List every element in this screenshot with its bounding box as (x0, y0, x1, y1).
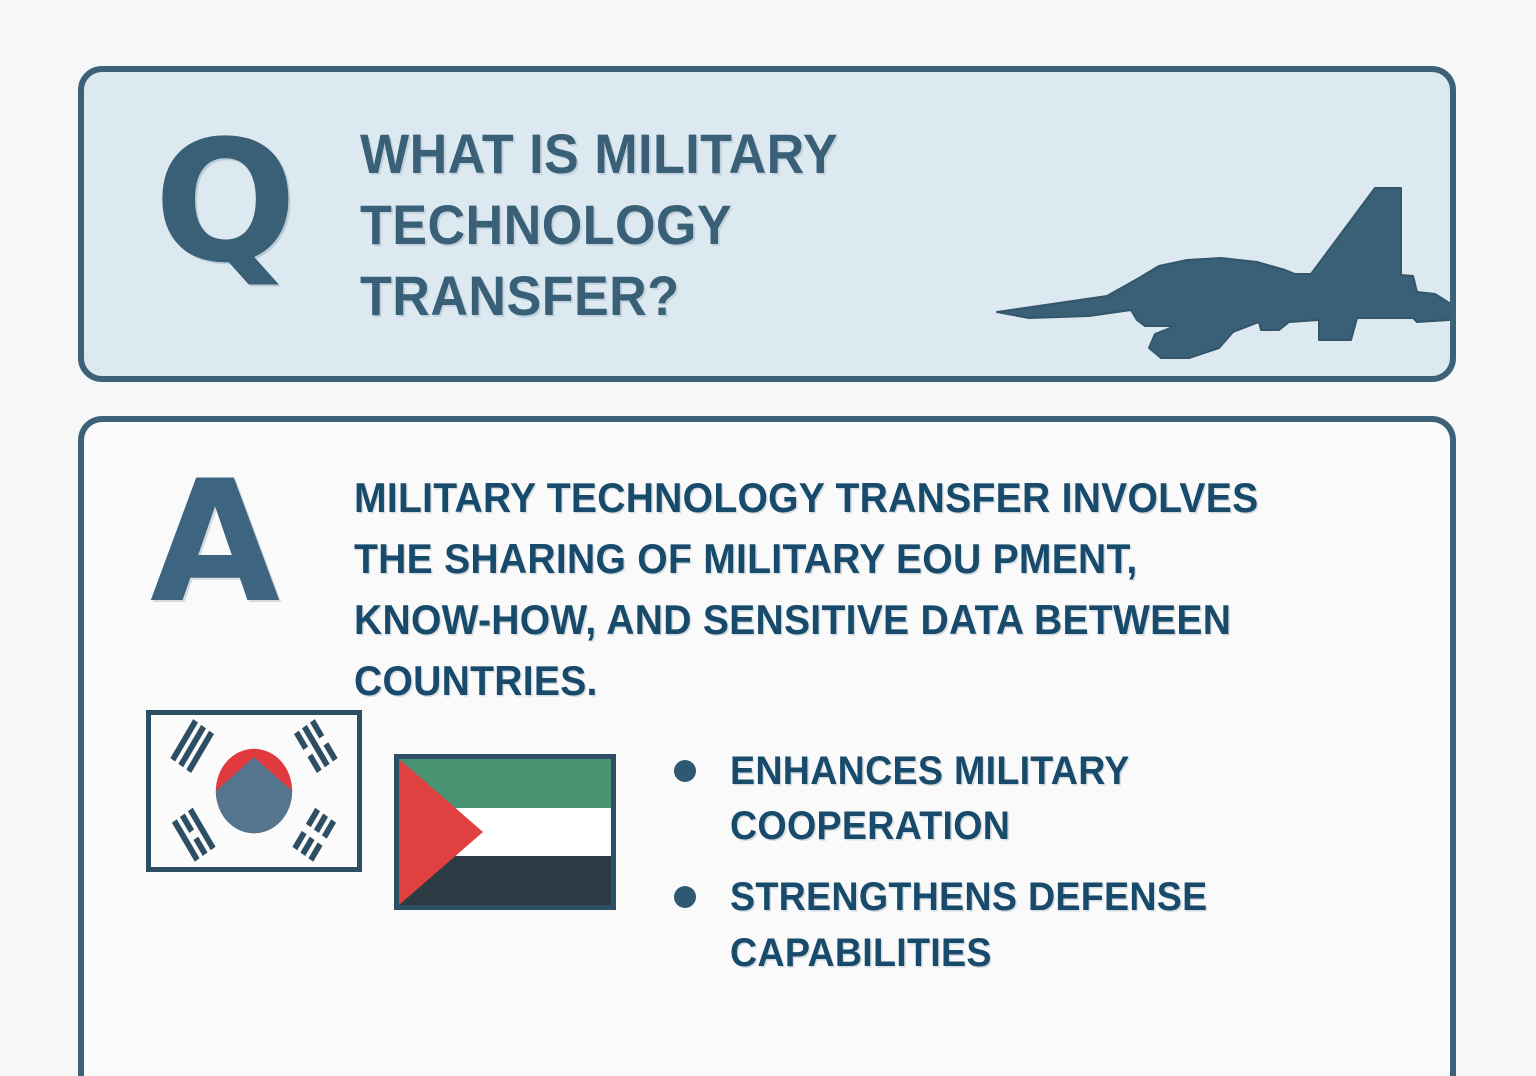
question-card: Q WHAT IS MILITARY TECHNOLOGY TRANSFER? (78, 66, 1456, 382)
palestine-flag-graphic (399, 759, 611, 905)
bullet-label: STRENGTHENS DEFENSE CAPABILITIES (730, 870, 1238, 980)
question-text: WHAT IS MILITARY TECHNOLOGY TRANSFER? (360, 118, 955, 331)
answer-text: MILITARY TECHNOLOGY TRANSFER INVOLVES TH… (354, 468, 1354, 712)
answer-marker-letter: A (150, 458, 280, 626)
question-marker-letter: Q (154, 118, 295, 286)
fighter-jet-icon (989, 180, 1456, 382)
taegeuk-circle (216, 749, 292, 833)
south-korea-flag (146, 710, 362, 872)
question-line-1: WHAT IS MILITARY (360, 118, 955, 189)
answer-line-1: MILITARY TECHNOLOGY TRANSFER INVOLVES (354, 468, 1354, 529)
answer-line-3: KNOW-HOW, AND SENSITIVE DATA BETWEEN (354, 590, 1354, 651)
question-line-3: TRANSFER? (360, 260, 955, 331)
list-item: STRENGTHENS DEFENSE CAPABILITIES (674, 870, 1314, 980)
bullet-label: ENHANCES MILITARY COOPERATION (730, 744, 1238, 854)
question-line-2: TECHNOLOGY (360, 189, 955, 260)
answer-card: A MILITARY TECHNOLOGY TRANSFER INVOLVES … (78, 416, 1456, 1076)
bullet-dot-icon (674, 886, 696, 908)
list-item: ENHANCES MILITARY COOPERATION (674, 744, 1314, 854)
answer-line-4: COUNTRIES. (354, 651, 1354, 712)
palestine-flag (394, 754, 616, 910)
benefits-list: ENHANCES MILITARY COOPERATION STRENGTHEN… (674, 744, 1314, 997)
bullet-dot-icon (674, 760, 696, 782)
south-korea-flag-graphic (151, 715, 357, 867)
infographic-page: Q WHAT IS MILITARY TECHNOLOGY TRANSFER? … (0, 0, 1536, 1024)
answer-line-2: THE SHARING OF MILITARY EOU PMENT, (354, 529, 1354, 590)
